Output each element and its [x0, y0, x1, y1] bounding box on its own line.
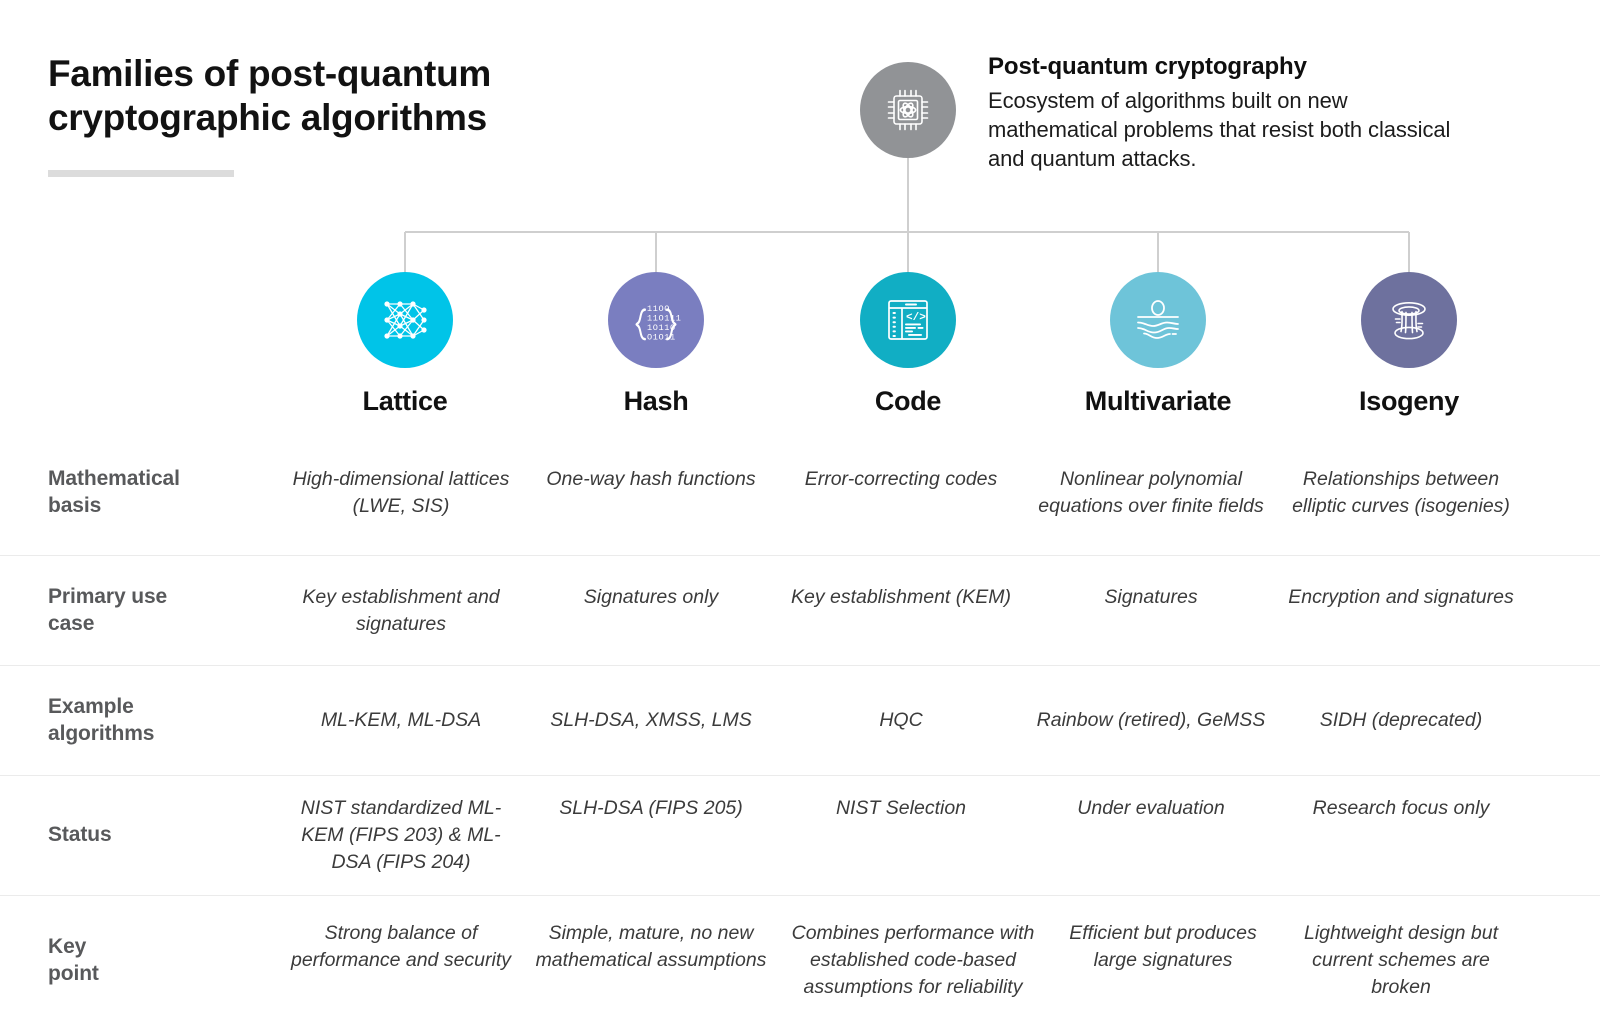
torus-curve-icon [1382, 293, 1436, 347]
cell-lattice: ML-KEM, ML-DSA [276, 707, 526, 734]
category-label-code: Code [778, 386, 1038, 417]
svg-text:11OO: 11OO [647, 304, 670, 314]
binary-braces-icon: 11OO 11O111 1O11O O1O11 [630, 294, 682, 346]
category-label-lattice: Lattice [275, 386, 535, 417]
page-title: Families of post-quantum cryptographic a… [48, 52, 588, 140]
quantum-chip-icon [881, 83, 935, 137]
cell-code: Combines performance with established co… [776, 920, 1050, 1001]
cell-multivariate: Signatures [1026, 584, 1276, 638]
row-label-line-1: Primary use [48, 584, 276, 611]
title-underline-rule [48, 170, 234, 177]
row-cells: Key establishment and signatures Signatu… [276, 584, 1600, 638]
row-label-line-1: Status [48, 822, 276, 849]
comparison-table: Mathematical basis High-dimensional latt… [0, 430, 1600, 1025]
cell-lattice: Key establishment and signatures [276, 584, 526, 638]
row-label-mathematical-basis: Mathematical basis [0, 466, 276, 520]
code-window-icon: </> [881, 293, 935, 347]
row-label-line-2: basis [48, 493, 276, 520]
table-row: Mathematical basis High-dimensional latt… [0, 430, 1600, 555]
row-label-line-1: Key [48, 934, 276, 961]
row-cells: ML-KEM, ML-DSA SLH-DSA, XMSS, LMS HQC Ra… [276, 707, 1600, 734]
category-circle-code[interactable]: </> [860, 272, 956, 368]
table-row: Example algorithms ML-KEM, ML-DSA SLH-DS… [0, 665, 1600, 775]
svg-text:</>: </> [906, 312, 926, 324]
svg-text:1O11O: 1O11O [647, 323, 676, 333]
cell-isogeny: Relationships between elliptic curves (i… [1276, 466, 1526, 520]
svg-text:O1O11: O1O11 [647, 333, 676, 343]
root-body-text: Ecosystem of algorithms built on new mat… [988, 86, 1458, 173]
row-label-line-1: Mathematical [48, 466, 276, 493]
cell-hash: Signatures only [526, 584, 776, 638]
category-circle-multivariate[interactable] [1110, 272, 1206, 368]
cell-code: Key establishment (KEM) [776, 584, 1026, 638]
root-description: Post-quantum cryptography Ecosystem of a… [988, 52, 1458, 173]
table-row: Primary use case Key establishment and s… [0, 555, 1600, 665]
category-circle-hash[interactable]: 11OO 11O111 1O11O O1O11 [608, 272, 704, 368]
lattice-network-icon [377, 292, 433, 348]
row-label-status: Status [0, 822, 276, 849]
row-cells: Strong balance of performance and securi… [276, 920, 1600, 1001]
wave-curves-icon [1131, 293, 1185, 347]
root-node-circle [860, 62, 956, 158]
cell-code: NIST Selection [776, 795, 1026, 876]
row-cells: High-dimensional lattices (LWE, SIS) One… [276, 466, 1600, 520]
row-label-line-2: point [48, 961, 276, 988]
cell-isogeny: Encryption and signatures [1276, 584, 1526, 638]
cell-multivariate: Under evaluation [1026, 795, 1276, 876]
cell-code: HQC [776, 707, 1026, 734]
row-cells: NIST standardized ML-KEM (FIPS 203) & ML… [276, 795, 1600, 876]
cell-isogeny: Lightweight design but current schemes a… [1276, 920, 1526, 1001]
cell-lattice: High-dimensional lattices (LWE, SIS) [276, 466, 526, 520]
cell-multivariate: Rainbow (retired), GeMSS [1026, 707, 1276, 734]
page-title-line-1: Families of post-quantum [48, 52, 588, 96]
root-heading: Post-quantum cryptography [988, 52, 1458, 82]
cell-isogeny: Research focus only [1276, 795, 1526, 876]
cell-hash: SLH-DSA, XMSS, LMS [526, 707, 776, 734]
page-title-line-2: cryptographic algorithms [48, 96, 588, 140]
infographic-page: Families of post-quantum cryptographic a… [0, 0, 1600, 1032]
row-label-line-1: Example [48, 694, 276, 721]
svg-text:11O111: 11O111 [647, 314, 682, 324]
cell-lattice: Strong balance of performance and securi… [276, 920, 526, 1001]
category-label-multivariate: Multivariate [1028, 386, 1288, 417]
row-label-primary-use-case: Primary use case [0, 584, 276, 638]
cell-lattice: NIST standardized ML-KEM (FIPS 203) & ML… [276, 795, 526, 876]
row-label-line-2: algorithms [48, 721, 276, 748]
row-label-example-algorithms: Example algorithms [0, 694, 276, 748]
cell-isogeny: SIDH (deprecated) [1276, 707, 1526, 734]
row-label-line-2: case [48, 611, 276, 638]
category-circle-lattice[interactable] [357, 272, 453, 368]
category-circle-isogeny[interactable] [1361, 272, 1457, 368]
cell-multivariate: Nonlinear polynomial equations over fini… [1026, 466, 1276, 520]
table-row: Key point Strong balance of performance … [0, 895, 1600, 1025]
cell-hash: Simple, mature, no new mathematical assu… [526, 920, 776, 1001]
cell-multivariate: Efficient but produces large signatures [1050, 920, 1276, 1001]
category-label-hash: Hash [526, 386, 786, 417]
row-label-key-point: Key point [0, 934, 276, 988]
cell-code: Error-correcting codes [776, 466, 1026, 520]
cell-hash: SLH-DSA (FIPS 205) [526, 795, 776, 876]
table-row: Status NIST standardized ML-KEM (FIPS 20… [0, 775, 1600, 895]
category-label-isogeny: Isogeny [1279, 386, 1539, 417]
cell-hash: One-way hash functions [526, 466, 776, 520]
